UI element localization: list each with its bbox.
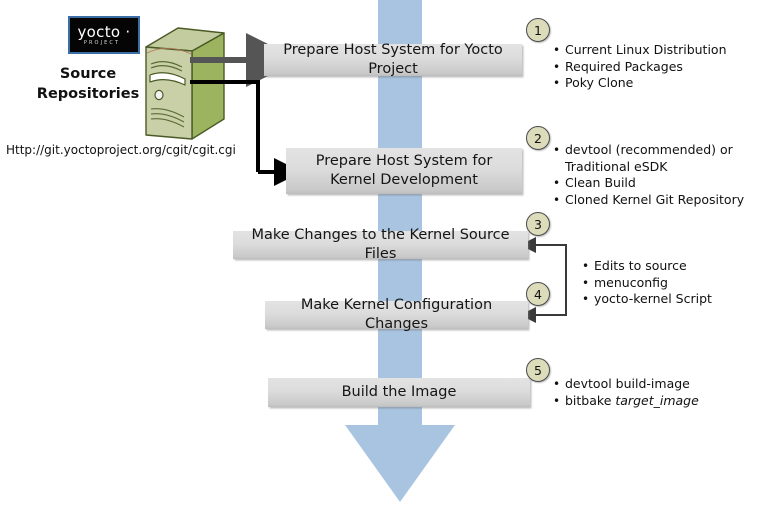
bullet-item: Cloned Kernel Git Repository xyxy=(553,192,768,209)
process-box-step-4[interactable]: Make Kernel Configuration Changes xyxy=(265,301,528,329)
yocto-project-logo: yocto · PROJECT xyxy=(68,16,140,54)
source-label-line1: Source xyxy=(28,64,148,84)
server-tower-icon xyxy=(132,23,228,145)
step-number-circle-2: 2 xyxy=(526,126,550,150)
bullet-item: Required Packages xyxy=(553,59,763,76)
bullet-item: Edits to source xyxy=(582,258,762,275)
process-box-step-5[interactable]: Build the Image xyxy=(268,378,530,407)
process-box-step-2[interactable]: Prepare Host System for Kernel Developme… xyxy=(286,148,522,194)
source-repositories-label: Source Repositories xyxy=(28,64,148,104)
process-box-label: Make Kernel Configuration Changes xyxy=(271,296,522,334)
bullet-item-bitbake: bitbake target_image xyxy=(553,393,753,410)
process-box-step-1[interactable]: Prepare Host System for Yocto Project xyxy=(264,44,522,76)
step-number-text: 1 xyxy=(534,23,542,38)
repository-url-text: Http://git.yoctoproject.org/cgit/cgit.cg… xyxy=(6,143,236,157)
bullet-item: Poky Clone xyxy=(553,75,763,92)
bullet-list-steps-3-4: Edits to source menuconfig yocto-kernel … xyxy=(582,258,762,308)
process-box-step-3[interactable]: Make Changes to the Kernel Source Files xyxy=(233,231,528,259)
bullet-list-step-1: Current Linux Distribution Required Pack… xyxy=(553,42,763,92)
step-number-text: 5 xyxy=(534,363,542,378)
step-number-circle-1: 1 xyxy=(526,18,550,42)
bullet-item: Clean Build xyxy=(553,175,768,192)
step-number-circle-4: 4 xyxy=(526,282,550,306)
logo-wordmark: yocto · xyxy=(78,25,131,40)
source-label-line2: Repositories xyxy=(28,84,148,104)
bullet-item: devtool build-image xyxy=(553,376,753,393)
process-box-label: Make Changes to the Kernel Source Files xyxy=(239,226,522,264)
bullet-list-step-5: devtool build-image bitbake target_image xyxy=(553,376,753,409)
diagram-canvas: yocto · PROJECT Source Repositories Http… xyxy=(0,0,769,517)
step-number-text: 4 xyxy=(534,287,542,302)
bullet-item: menuconfig xyxy=(582,275,762,292)
process-box-label: Prepare Host System for Yocto Project xyxy=(270,41,516,79)
bitbake-command: bitbake target_image xyxy=(565,393,699,408)
step-number-circle-5: 5 xyxy=(526,358,550,382)
bullet-item: devtool (recommended) or Traditional eSD… xyxy=(553,142,768,175)
process-box-label: Prepare Host System for Kernel Developme… xyxy=(292,152,516,190)
bullet-item: Current Linux Distribution xyxy=(553,42,763,59)
process-box-label: Build the Image xyxy=(342,383,457,402)
step-number-text: 2 xyxy=(534,131,542,146)
bullet-list-step-2: devtool (recommended) or Traditional eSD… xyxy=(553,142,768,208)
bullet-item: yocto-kernel Script xyxy=(582,291,762,308)
step-number-text: 3 xyxy=(534,217,542,232)
step-number-circle-3: 3 xyxy=(526,212,550,236)
logo-subtext: PROJECT xyxy=(84,41,120,46)
